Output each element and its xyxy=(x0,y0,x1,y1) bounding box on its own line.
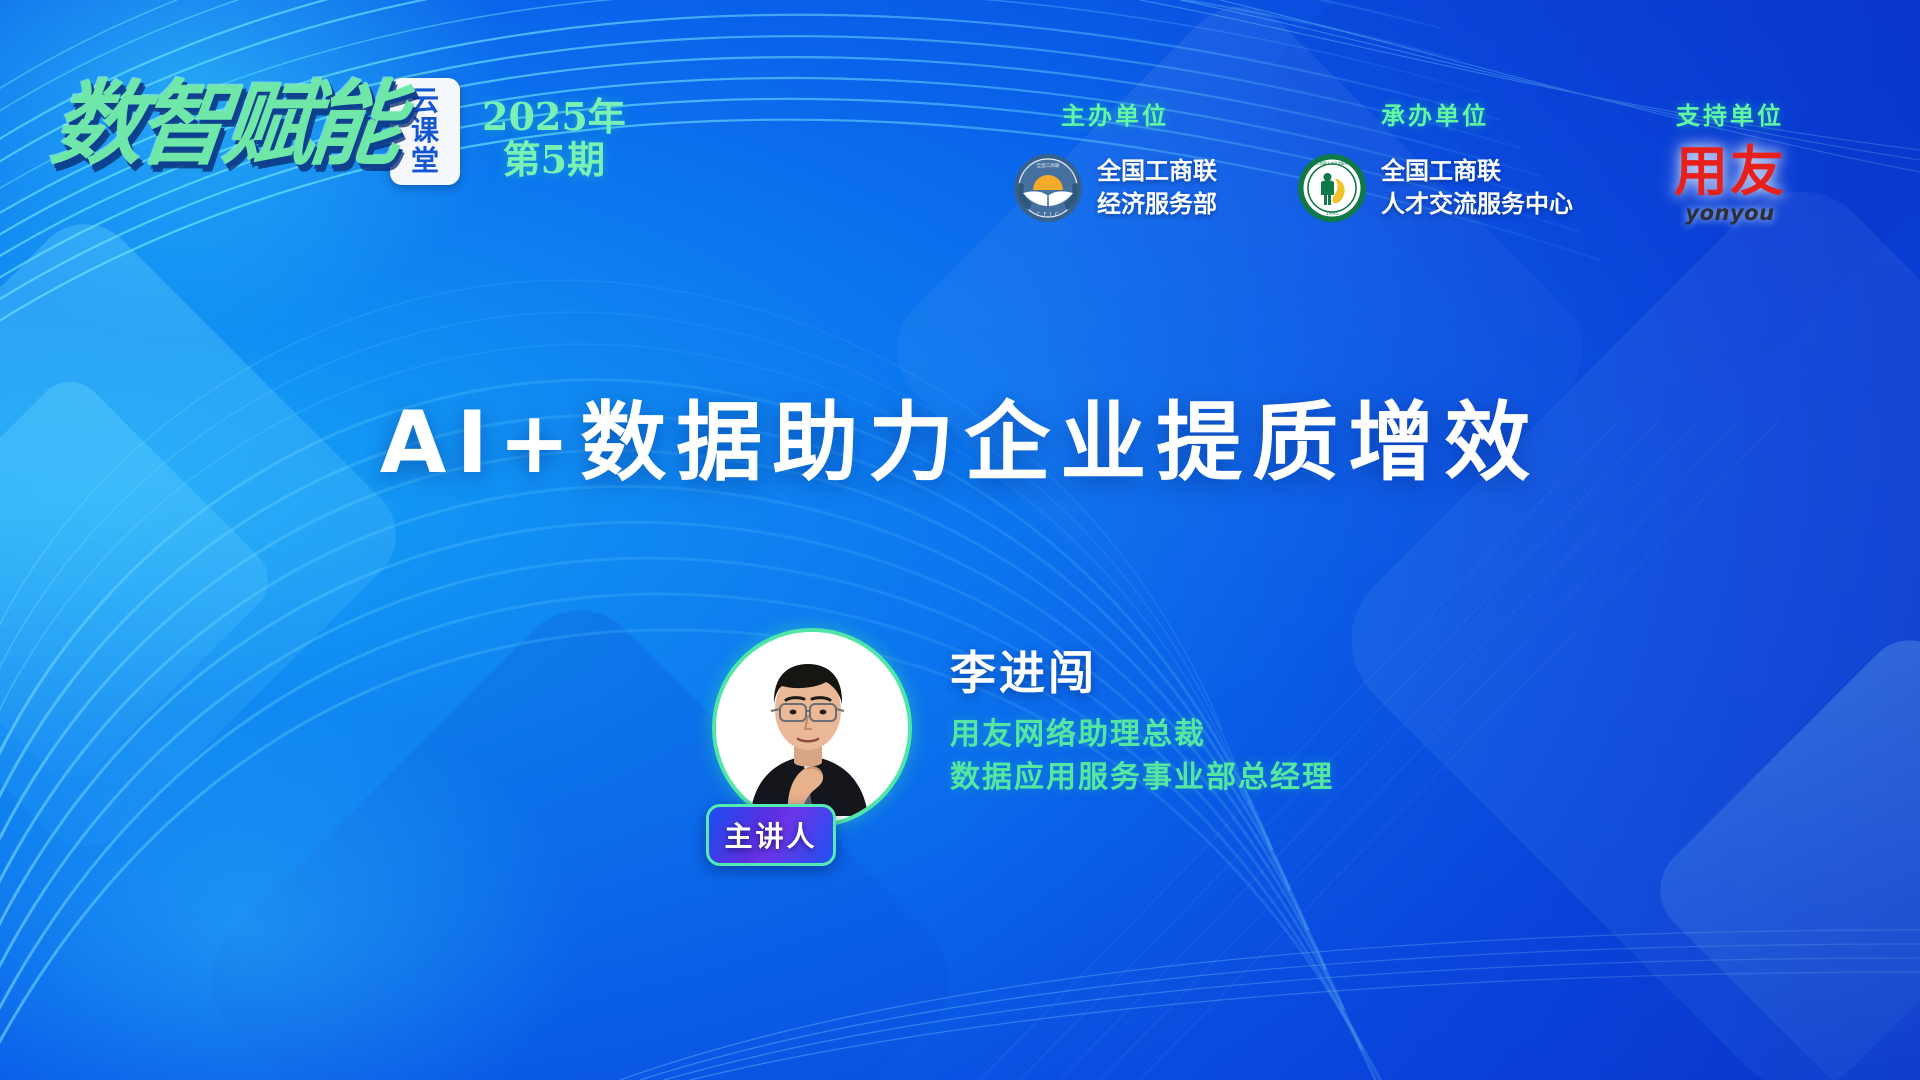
speaker-info: 李进闯 用友网络助理总裁 数据应用服务事业部总经理 xyxy=(950,628,1334,799)
sponsor-supporter: 支持单位 用友 yonyou xyxy=(1600,96,1860,225)
issue-year: 2025年 xyxy=(482,96,626,139)
speaker-title-line2: 数据应用服务事业部总经理 xyxy=(950,757,1334,800)
cloud-badge-char-2: 课 xyxy=(396,116,454,146)
speaker-title: 用友网络助理总裁 数据应用服务事业部总经理 xyxy=(950,714,1334,799)
speaker-role-badge-label: 主讲人 xyxy=(724,815,817,855)
cloud-classroom-badge: 云 课 堂 xyxy=(390,78,460,185)
issue-number: 第5期 xyxy=(482,139,626,182)
sponsor-co-organizer-name-line1: 全国工商联 xyxy=(1381,155,1573,188)
cloud-badge-char-1: 云 xyxy=(396,86,454,116)
sponsor-supporter-label: 支持单位 xyxy=(1600,96,1860,131)
speaker-role-badge: 主讲人 xyxy=(706,804,836,866)
svg-text:C F I C: C F I C xyxy=(1036,212,1059,218)
sponsor-organizer-name: 全国工商联 经济服务部 xyxy=(1097,155,1217,221)
svg-text:全国工商联人才交流服务中心: 全国工商联人才交流服务中心 xyxy=(1309,161,1356,166)
speaker-name: 李进闯 xyxy=(950,650,1334,696)
speaker-avatar xyxy=(712,628,912,828)
speaker-block: 主讲人 李进闯 用友网络助理总裁 数据应用服务事业部总经理 xyxy=(712,628,1334,820)
yonyou-logo-cn: 用友 xyxy=(1674,145,1786,199)
issue-info: 2025年 第5期 xyxy=(482,96,626,181)
sponsor-organizer-label: 主办单位 xyxy=(960,96,1270,131)
yonyou-logo-en: yonyou xyxy=(1685,201,1774,225)
brand-calligraphy-text: 数智赋能 xyxy=(47,78,401,170)
sponsor-co-organizer-name-line2: 人才交流服务中心 xyxy=(1381,188,1573,221)
svg-text:全国工商联: 全国工商联 xyxy=(1037,162,1060,169)
brand-logo: 数智赋能 云 课 堂 2025年 第5期 xyxy=(52,78,626,185)
speaker-title-line1: 用友网络助理总裁 xyxy=(950,714,1334,757)
sponsor-organizer: 主办单位 全国工商联 C F I C xyxy=(960,96,1270,225)
sponsor-row: 主办单位 全国工商联 C F I C xyxy=(960,96,1860,225)
sponsor-co-organizer-label: 承办单位 xyxy=(1270,96,1600,131)
page-title: AI+数据助力企业提质增效 xyxy=(0,400,1920,486)
slide-canvas: 数智赋能 云 课 堂 2025年 第5期 主办单位 xyxy=(0,0,1920,1080)
cloud-badge-char-3: 堂 xyxy=(396,146,454,176)
yonyou-logo-icon: 用友 yonyou xyxy=(1600,145,1860,225)
talent-center-circle-emblem-icon: 全国工商联人才交流服务中心 1995 xyxy=(1297,153,1367,223)
sponsor-co-organizer: 承办单位 全国工商联人才交流服务中心 1995 全国工商联 xyxy=(1270,96,1600,225)
sponsor-co-organizer-name: 全国工商联 人才交流服务中心 xyxy=(1381,155,1573,221)
sponsor-organizer-name-line1: 全国工商联 xyxy=(1097,155,1217,188)
sponsor-organizer-name-line2: 经济服务部 xyxy=(1097,188,1217,221)
cfic-circle-emblem-icon: 全国工商联 C F I C xyxy=(1013,153,1083,223)
svg-text:1995: 1995 xyxy=(1326,211,1339,217)
